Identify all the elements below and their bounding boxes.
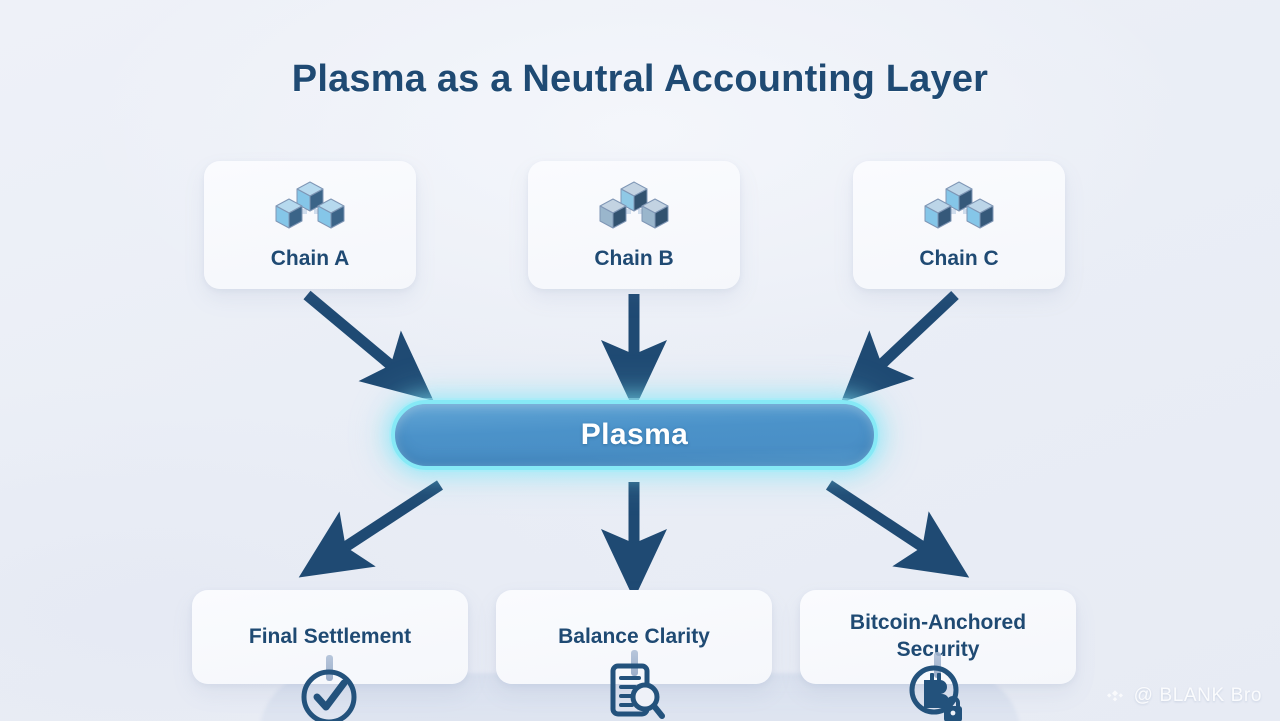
chain-card-label: Chain B — [594, 246, 673, 273]
plasma-hub-node[interactable]: Plasma — [391, 400, 878, 470]
check-circle-icon — [298, 666, 360, 721]
watermark: @ BLANK Bro — [1104, 685, 1262, 707]
bitcoin-lock-icon — [906, 662, 968, 721]
outcome-card-label: Balance Clarity — [558, 624, 710, 651]
blockchain-cubes-icon — [922, 178, 996, 232]
document-search-icon — [604, 660, 666, 721]
blockchain-cubes-icon — [597, 178, 671, 232]
chain-card-chain-c[interactable]: Chain C — [853, 161, 1065, 289]
arrow-plasma-to-final-settlement — [330, 485, 440, 557]
chain-card-chain-a[interactable]: Chain A — [204, 161, 416, 289]
arrow-chain-c-to-plasma — [868, 295, 955, 377]
blockchain-cubes-icon — [273, 178, 347, 232]
chain-card-chain-b[interactable]: Chain B — [528, 161, 740, 289]
slide-canvas: Plasma as a Neutral Accounting Layer — [0, 0, 1280, 721]
arrow-chain-a-to-plasma — [307, 295, 405, 377]
chain-card-label: Chain C — [919, 246, 998, 273]
diamond-logo-icon — [1104, 685, 1126, 707]
page-title: Plasma as a Neutral Accounting Layer — [0, 58, 1280, 101]
outcome-card-label: Final Settlement — [249, 624, 411, 651]
chain-card-label: Chain A — [271, 246, 350, 273]
watermark-text: @ BLANK Bro — [1134, 685, 1262, 707]
arrow-plasma-to-bitcoin-anchored-security — [829, 485, 938, 557]
plasma-hub-label: Plasma — [581, 418, 688, 452]
